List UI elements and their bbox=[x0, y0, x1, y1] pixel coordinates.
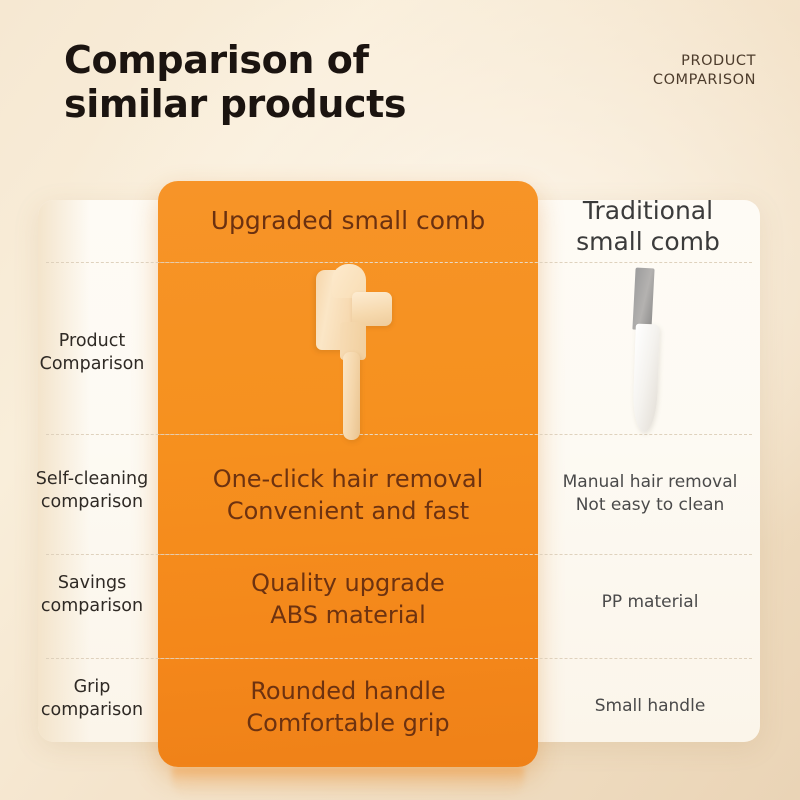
divider-row-3-top bbox=[46, 658, 752, 659]
column-header-traditional: Traditional small comb bbox=[548, 196, 748, 257]
page-title: Comparison of similar products bbox=[64, 38, 494, 126]
cell-upgraded-self-cleaning: One-click hair removal Convenient and fa… bbox=[158, 464, 538, 528]
cell-upgraded-grip: Rounded handle Comfortable grip bbox=[158, 676, 538, 740]
row-label-grip-comparison: Grip comparison bbox=[26, 676, 158, 723]
cell-traditional-savings: PP material bbox=[548, 591, 752, 614]
cell-traditional-grip: Small handle bbox=[548, 695, 752, 718]
traditional-comb-icon bbox=[618, 268, 698, 434]
cell-upgraded-savings: Quality upgrade ABS material bbox=[158, 568, 538, 632]
row-label-product-comparison: Product Comparison bbox=[26, 330, 158, 377]
row-label-savings-comparison: Savings comparison bbox=[26, 572, 158, 619]
cell-traditional-self-cleaning: Manual hair removal Not easy to clean bbox=[548, 471, 752, 518]
comparison-infographic: Comparison of similar products PRODUCT C… bbox=[0, 0, 800, 800]
row-label-self-cleaning-comparison: Self-cleaning comparison bbox=[26, 468, 158, 515]
upgraded-comb-icon bbox=[300, 262, 410, 440]
divider-row-2-top bbox=[46, 554, 752, 555]
highlight-column-reflection bbox=[172, 767, 524, 797]
kicker-label: PRODUCT COMPARISON bbox=[546, 52, 756, 90]
column-header-upgraded: Upgraded small comb bbox=[158, 206, 538, 236]
